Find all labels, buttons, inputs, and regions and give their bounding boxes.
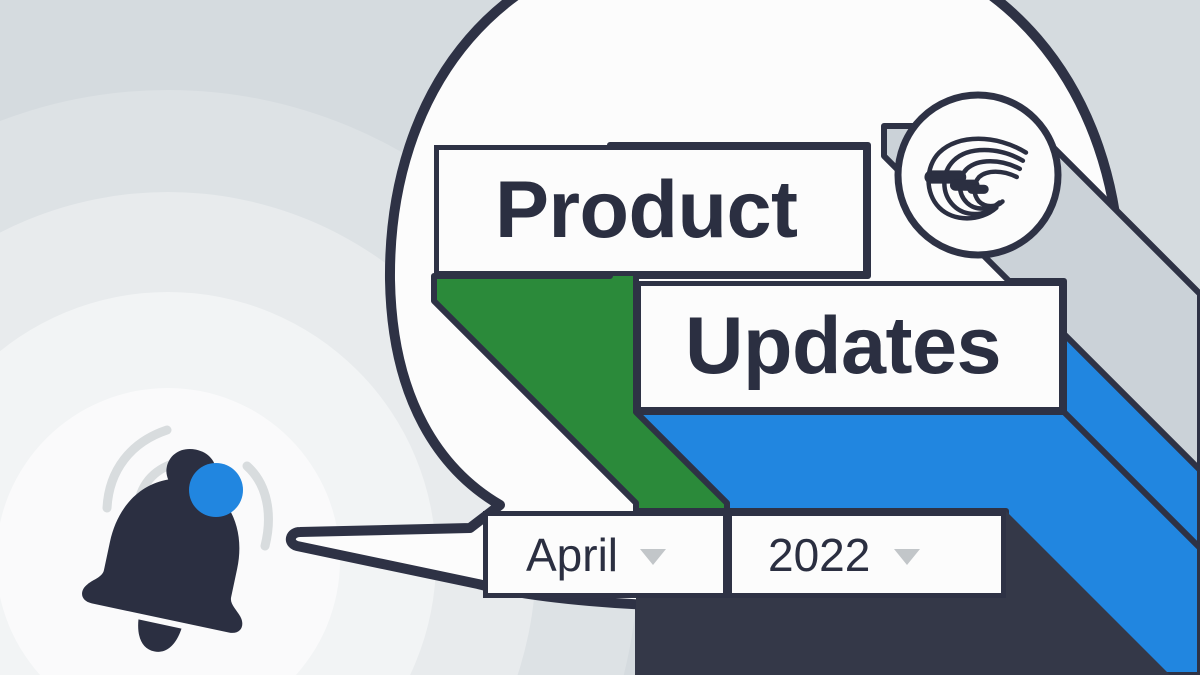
hero-banner: Product Updates April 2022 <box>0 0 1200 675</box>
cloudbees-logo <box>0 0 1200 675</box>
